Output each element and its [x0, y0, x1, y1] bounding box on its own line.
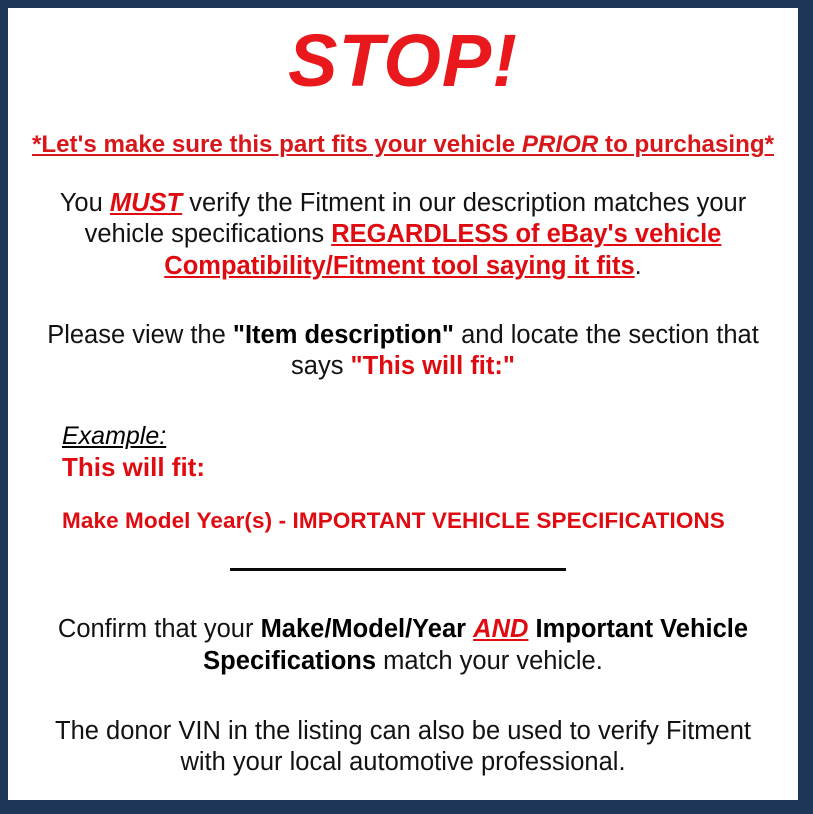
example-label: Example: [62, 423, 792, 451]
itemdesc-part1: Please view the [47, 321, 233, 349]
confirm-part1: Confirm that your [58, 615, 261, 643]
confirm-paragraph: Confirm that your Make/Model/Year AND Im… [14, 614, 792, 677]
tagline-before: *Let's make sure this part fits your veh… [32, 131, 522, 158]
example-section: Example: This will fit: Make Model Year(… [14, 423, 792, 535]
divider-rule [230, 568, 566, 571]
stop-heading: STOP! [14, 24, 792, 98]
fitment-notice-body: STOP! *Let's make sure this part fits yo… [8, 24, 798, 814]
example-will-fit-label: This will fit: [62, 452, 792, 483]
and-emphasis: AND [473, 615, 528, 643]
tagline-after: to purchasing* [598, 131, 774, 158]
must-paragraph-part3: . [635, 252, 642, 280]
thank-you-line: Thank you for confirming Fitment! [14, 809, 792, 814]
this-will-fit-emphasis: "This will fit:" [351, 352, 515, 380]
confirm-space2 [528, 615, 535, 643]
tagline: *Let's make sure this part fits your veh… [20, 132, 786, 158]
must-emphasis: MUST [110, 189, 182, 217]
example-spec-line: Make Model Year(s) - IMPORTANT VEHICLE S… [62, 507, 792, 534]
section-divider [14, 560, 792, 570]
donor-vin-paragraph: The donor VIN in the listing can also be… [14, 716, 792, 779]
must-verify-paragraph: You MUST verify the Fitment in our descr… [14, 188, 792, 283]
item-description-paragraph: Please view the "Item description" and l… [14, 320, 792, 383]
must-paragraph-part1: You [60, 189, 110, 217]
fitment-notice-frame: STOP! *Let's make sure this part fits yo… [0, 0, 813, 814]
make-model-year-emphasis: Make/Model/Year [261, 615, 467, 643]
tagline-emphasis-prior: PRIOR [522, 131, 598, 158]
confirm-part2: match your vehicle. [376, 647, 603, 675]
item-description-emphasis: "Item description" [233, 321, 454, 349]
